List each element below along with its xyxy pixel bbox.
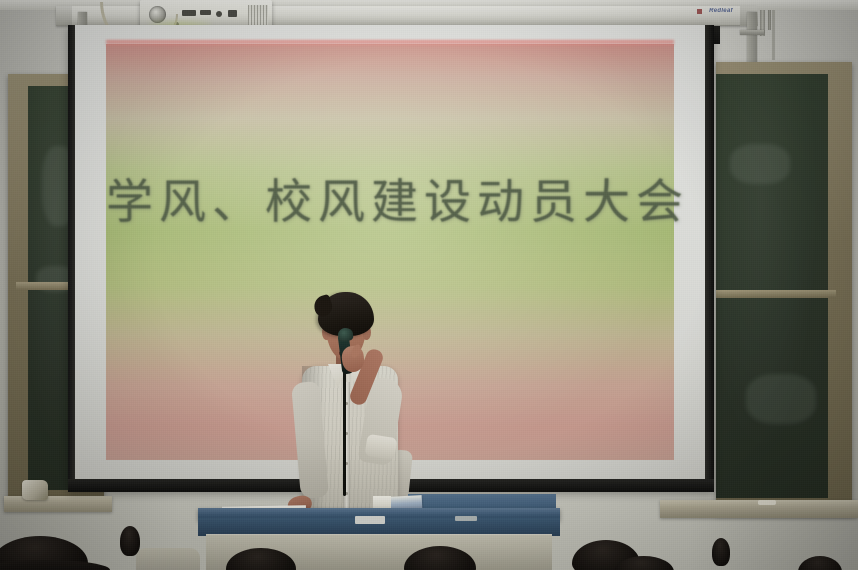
screen-brand-label: Redleaf — [695, 7, 747, 16]
podium-label-plate — [355, 516, 385, 524]
chalkboard-right-surface — [716, 74, 828, 498]
power-port — [228, 10, 237, 17]
microphone-head — [337, 327, 353, 342]
chalkboard-right — [716, 62, 852, 514]
screen-mount-plate-right — [740, 30, 764, 35]
chalkboard-eraser[interactable] — [22, 480, 48, 500]
chalk-smudge — [730, 144, 790, 184]
hdmi-port — [200, 10, 211, 15]
audience-head — [712, 538, 730, 566]
chalk-smudge — [746, 374, 816, 424]
slide-title-text: 学风、校风建设动员大会 — [106, 172, 674, 234]
screen-border-left — [68, 25, 75, 491]
podium-label-plate-small — [455, 516, 477, 521]
screen-border-right — [705, 25, 714, 491]
audience-chair-back — [136, 548, 200, 570]
presenter-rolled-cuff — [364, 434, 397, 460]
vga-port — [182, 10, 196, 16]
audio-port — [216, 11, 222, 17]
chalk-tray-left — [4, 496, 112, 512]
classroom-photo-scene: Redleaf 学风、校风建设动员大会 — [0, 0, 858, 570]
microphone-cord — [343, 372, 346, 496]
projector-vent — [248, 5, 268, 27]
projected-slide-top-edge — [106, 40, 674, 46]
screen-mount-bracket-right — [747, 12, 757, 64]
chalk-stick[interactable] — [758, 500, 776, 505]
chalkboard-right-divider — [716, 290, 836, 298]
housing-end-cap-left — [56, 6, 72, 25]
